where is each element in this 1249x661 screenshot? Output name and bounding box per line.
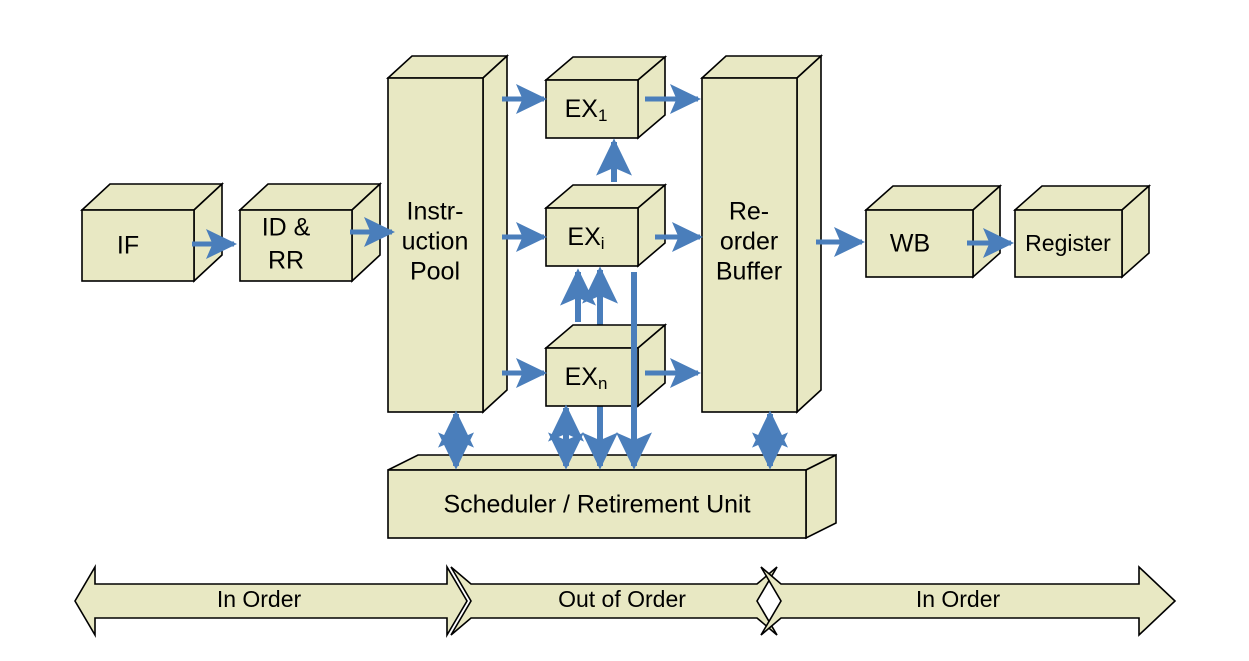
block-scheduler-side-face xyxy=(806,455,836,538)
block-register-label: Register xyxy=(1025,230,1111,256)
block-reorder-buffer-label-line1: Re- xyxy=(729,198,769,226)
band-in-order-front-label: In Order xyxy=(217,586,302,612)
band-in-order-front: In Order xyxy=(75,567,467,635)
block-instruction-pool-label-line1: Instr- xyxy=(407,198,464,226)
block-instruction-pool-label-line2: uction xyxy=(402,228,469,256)
block-id-rr-label-line1: ID & xyxy=(262,214,311,242)
block-exi-label: EXi xyxy=(567,223,604,254)
block-reorder-buffer-side-face xyxy=(797,56,821,412)
block-instruction-pool-label-line3: Pool xyxy=(410,258,460,286)
block-if: IF xyxy=(82,184,222,281)
block-wb: WB xyxy=(866,186,1000,277)
block-instruction-pool-side-face xyxy=(483,56,507,412)
block-if-label: IF xyxy=(117,232,139,260)
block-reorder-buffer-label-line3: Buffer xyxy=(716,258,782,286)
block-instruction-pool: Instr- uction Pool xyxy=(388,56,507,412)
block-id-rr-label-line2: RR xyxy=(268,247,304,275)
band-out-of-order-label: Out of Order xyxy=(558,586,686,612)
block-exn: EXn xyxy=(546,325,665,406)
block-register: Register xyxy=(1015,186,1149,277)
block-reorder-buffer: Re- order Buffer xyxy=(702,56,821,412)
pipeline-diagram-svg: IF ID & RR Instr- uction Pool EX1 xyxy=(0,0,1249,661)
block-reorder-buffer-label-line2: order xyxy=(720,228,778,256)
block-wb-label: WB xyxy=(890,230,930,258)
block-exi: EXi xyxy=(546,185,665,266)
band-in-order-back: In Order xyxy=(761,567,1175,635)
diagram-canvas: IF ID & RR Instr- uction Pool EX1 xyxy=(0,0,1249,661)
band-in-order-back-label: In Order xyxy=(916,586,1001,612)
band-out-of-order: Out of Order xyxy=(451,567,777,635)
block-scheduler-label: Scheduler / Retirement Unit xyxy=(443,491,750,519)
block-scheduler: Scheduler / Retirement Unit xyxy=(388,455,836,538)
